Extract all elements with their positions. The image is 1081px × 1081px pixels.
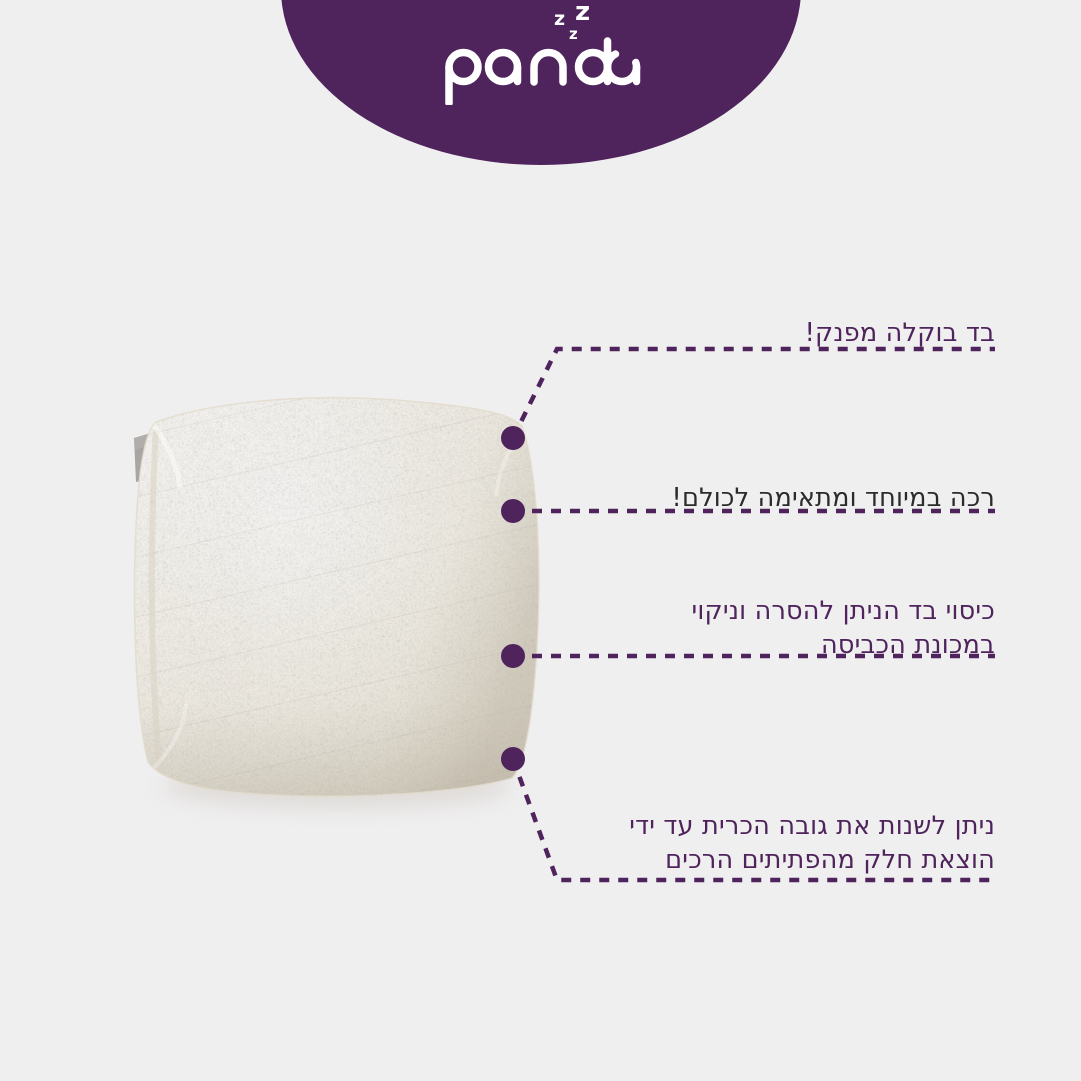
callout-text-washable-cover: כיסוי בד הניתן להסרה וניקוי במכונת הכביס… (691, 595, 995, 662)
brand-wordmark-panda (441, 35, 641, 105)
connector-line-fabric (513, 349, 995, 438)
callout-washable-line-1: כיסוי בד הניתן להסרה וניקוי (691, 595, 995, 629)
callout-text-softness: רכה במיוחד ומתאימה לכולם! (672, 482, 995, 516)
product-image-boucle-cushion (120, 370, 560, 830)
infographic-canvas: z z z (0, 0, 1081, 1081)
callout-fabric-line-1: בד בוקלה מפנק! (805, 317, 995, 351)
callout-washable-line-2: במכונת הכביסה (691, 629, 995, 663)
callout-adjustable-line-2: הוצאת חלק מהפתיתים הרכים (629, 844, 995, 878)
pillow-body (120, 370, 560, 830)
sleep-z-medium-icon: z (554, 10, 565, 29)
callout-adjustable-line-1: ניתן לשנות את גובה הכרית עד ידי (629, 810, 995, 844)
callout-text-adjustable-height: ניתן לשנות את גובה הכרית עד ידי הוצאת חל… (629, 810, 995, 877)
callout-text-fabric: בד בוקלה מפנק! (805, 317, 995, 351)
sleep-z-large-icon: z (575, 0, 590, 25)
header-arc-banner: z z z (281, 0, 801, 165)
callout-softness-line-1: רכה במיוחד ומתאימה לכולם! (672, 482, 995, 516)
brand-logo: z z z (281, 0, 801, 105)
